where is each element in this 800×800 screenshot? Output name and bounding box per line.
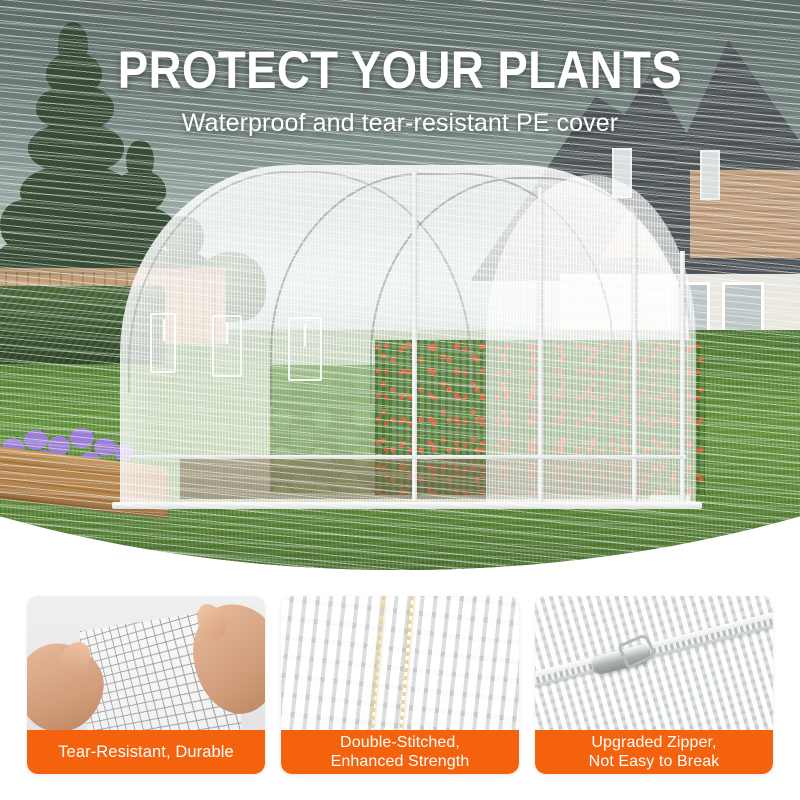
roll-up-window-3 [288,317,322,381]
roll-up-window-1 [150,313,176,373]
feature-photo-tear-resistant [27,596,265,730]
feature-card-tear-resistant[interactable]: Tear-Resistant, Durable [27,596,265,774]
feature-caption-upgraded-zipper: Upgraded Zipper, Not Easy to Break [535,730,773,774]
stitch-line-1 [369,596,386,730]
feature-card-double-stitched[interactable]: Double-Stitched, Enhanced Strength [281,596,519,774]
product-marketing-page: PROTECT YOUR PLANTS Waterproof and tear-… [0,0,800,800]
page-subtitle: Waterproof and tear-resistant PE cover [0,108,800,138]
stitched-fabric-photo [281,596,519,730]
caption-line: Enhanced Strength [331,752,470,771]
greenhouse-base-rail [112,502,702,509]
frame-pole-3 [632,217,637,503]
caption-line: Double-Stitched, [340,733,460,752]
caption-line: Upgraded Zipper, [591,733,716,752]
mesh-stretch-photo [27,596,265,730]
caption-line: Tear-Resistant, Durable [58,743,234,762]
frame-pole-4 [680,251,685,503]
stitch-line-2 [398,596,415,730]
feature-caption-tear-resistant: Tear-Resistant, Durable [27,730,265,774]
greenhouse-tunnel [120,165,690,505]
roll-up-window-2 [212,315,242,377]
feature-card-row: Tear-Resistant, Durable Double-Stitched,… [27,596,773,774]
hero-image: PROTECT YOUR PLANTS Waterproof and tear-… [0,0,800,570]
zipper-photo [535,596,773,730]
feature-photo-double-stitched [281,596,519,730]
side-rail [130,455,686,459]
feature-card-upgraded-zipper[interactable]: Upgraded Zipper, Not Easy to Break [535,596,773,774]
page-title: PROTECT YOUR PLANTS [56,44,744,98]
frame-pole-1 [412,171,417,501]
feature-photo-upgraded-zipper [535,596,773,730]
feature-caption-double-stitched: Double-Stitched, Enhanced Strength [281,730,519,774]
caption-line: Not Easy to Break [589,752,720,771]
